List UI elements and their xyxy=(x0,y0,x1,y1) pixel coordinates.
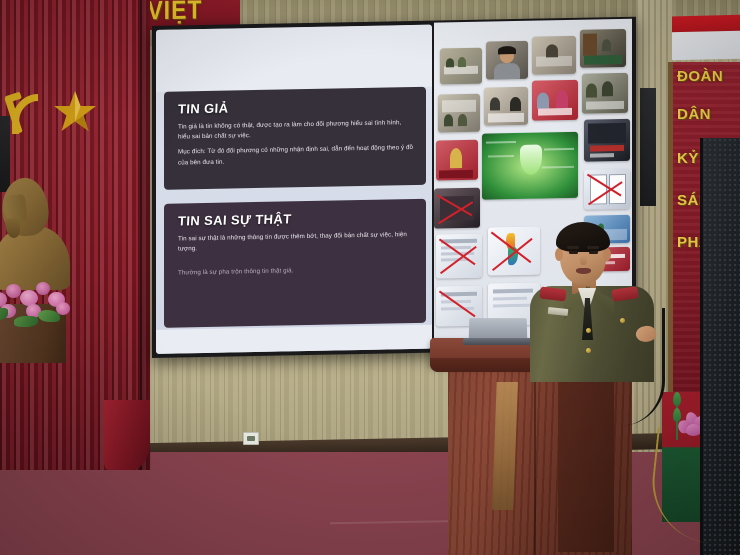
screenshot-crossed-post xyxy=(436,234,482,279)
presenter-eyebrow-right xyxy=(587,246,599,249)
curtain-fold xyxy=(104,400,150,470)
slide-panel-false-news: TIN SAI SỰ THẬT Tin sai sự thật là những… xyxy=(164,199,426,328)
presenter-laptop xyxy=(463,318,531,346)
photo-red-backdrop-event xyxy=(532,80,578,121)
photo-ceremony-stage xyxy=(436,140,478,181)
photo-classroom xyxy=(438,94,480,133)
laptop-base xyxy=(463,338,531,345)
slide-paragraph-2b: Thường là sự pha trộn thông tin thật giả… xyxy=(178,264,414,279)
conference-hall-photo: CỘNG SẢN VIỆT xyxy=(0,0,740,555)
photo-conference-table xyxy=(580,29,626,68)
screenshot-crossed-phone xyxy=(584,169,630,210)
presenter-eye-right xyxy=(589,251,598,254)
photo-crossed-video xyxy=(434,188,480,229)
leaf xyxy=(0,308,8,320)
slide-top-strip xyxy=(156,25,432,92)
hammer-and-sickle-icon xyxy=(4,88,48,140)
flower-arrangement xyxy=(0,274,94,330)
presentation-slide: TIN GIẢ Tin giả là tin không có thật, đư… xyxy=(156,25,432,354)
leaf xyxy=(38,310,60,322)
photo-meeting-room xyxy=(440,48,482,85)
presenter-eye-left xyxy=(569,251,578,254)
photo-officers-working xyxy=(582,73,628,114)
photo-man-portrait xyxy=(486,41,528,80)
slide-paragraph-1a: Tin giả là tin không có thật, được tạo r… xyxy=(178,118,414,143)
wall-power-outlet xyxy=(243,432,259,445)
slide-heading-2: TIN SAI SỰ THẬT xyxy=(178,209,415,229)
slide-paragraph-2a: Tin sai sự thật là những thông tin được … xyxy=(178,230,414,255)
slide-bottom-strip xyxy=(156,325,432,354)
slide-paragraph-1b: Mục đích: Từ đó đối phương có những nhận… xyxy=(178,143,414,168)
leaf xyxy=(14,316,38,327)
presenter-nose xyxy=(580,255,587,265)
slide-heading-1: TIN GIẢ xyxy=(178,97,415,117)
flower xyxy=(36,282,50,295)
presenter-hair xyxy=(556,222,610,252)
banner-right-line-2: DÂN xyxy=(677,106,740,123)
uniform-button xyxy=(586,348,591,353)
presenter-mouth xyxy=(576,268,591,274)
slide-panel-fake-news: TIN GIẢ Tin giả là tin không có thật, đư… xyxy=(164,87,426,190)
graphic-cyber-shield xyxy=(482,132,578,200)
uniform-button xyxy=(586,328,591,333)
bronze-bust xyxy=(0,178,78,363)
flower xyxy=(6,284,21,298)
photo-office-desk xyxy=(532,36,576,75)
gold-star-icon xyxy=(53,90,97,132)
presenter-eyebrow-left xyxy=(567,246,579,249)
uniformed-presenter xyxy=(524,222,656,382)
pillar-dark-panel xyxy=(640,88,656,206)
photo-news-screen xyxy=(584,119,630,162)
lotus-bud xyxy=(673,392,681,406)
banner-right-line-1: ĐOÀN xyxy=(677,68,740,85)
photo-interview-desk xyxy=(484,87,528,126)
presenter-ear-right xyxy=(603,248,611,261)
podium-side-panel xyxy=(558,376,614,552)
laptop-screen xyxy=(469,318,528,340)
podium-seam xyxy=(534,372,536,555)
